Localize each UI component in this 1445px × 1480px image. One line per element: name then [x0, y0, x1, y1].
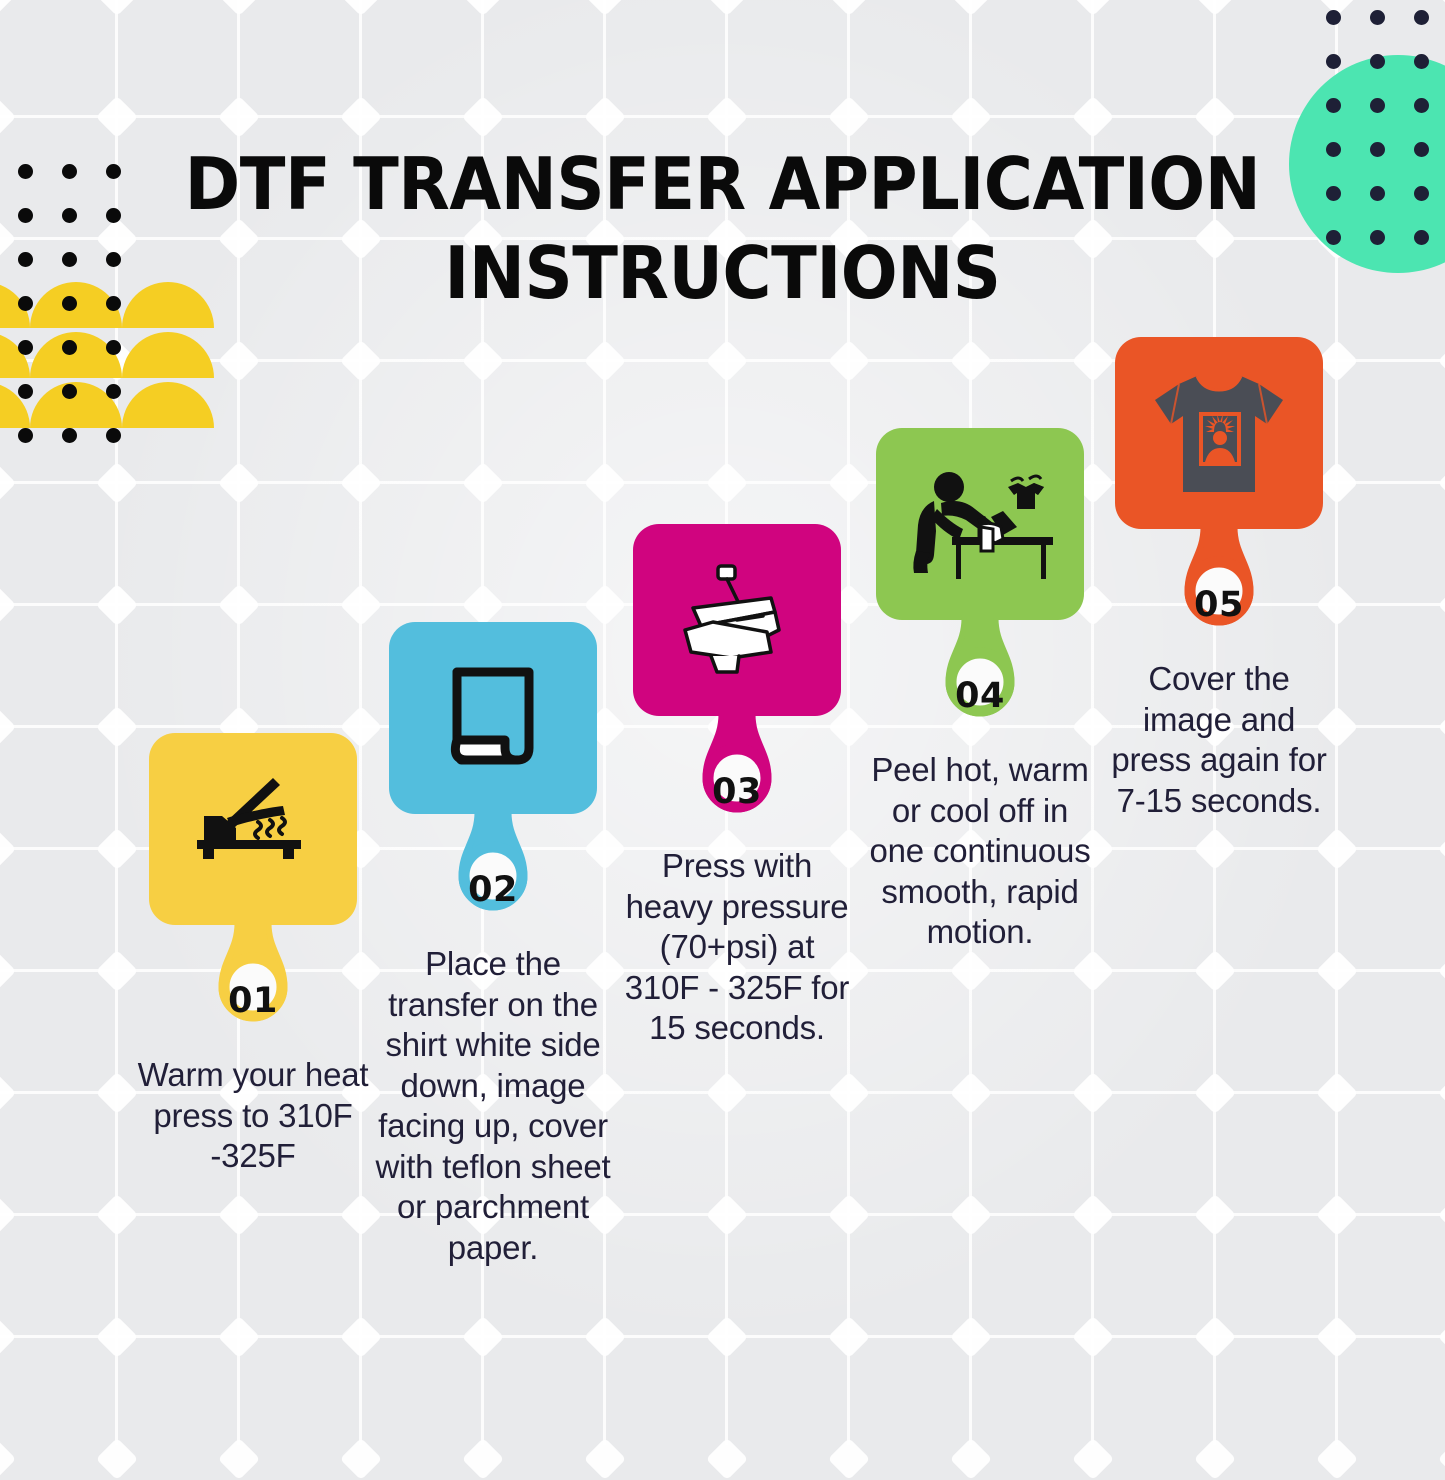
step-card-02	[389, 622, 597, 814]
step-number-04: 04	[855, 676, 1105, 716]
step-number-03: 03	[612, 772, 862, 812]
step-02: 02Place the transfer on the shirt white …	[368, 622, 618, 1269]
step-connector-01: 01	[128, 925, 378, 1049]
step-description-03: Press with heavy pressure (70+psi) at 31…	[612, 846, 862, 1049]
step-04: 04Peel hot, warm or cool off in one cont…	[855, 428, 1105, 953]
step-connector-04: 04	[855, 620, 1105, 744]
step-connector-03: 03	[612, 716, 862, 840]
transfer-sheet-icon	[437, 662, 549, 774]
step-card-01	[149, 733, 357, 925]
step-description-05: Cover the image and press again for 7-15…	[1094, 659, 1344, 821]
step-card-05	[1115, 337, 1323, 529]
step-number-01: 01	[128, 981, 378, 1021]
step-01: 01Warm your heat press to 310F -325F	[128, 733, 378, 1177]
steps-container: 01Warm your heat press to 310F -325F 02P…	[0, 0, 1445, 1445]
heat-press-open-icon	[187, 774, 319, 884]
step-number-05: 05	[1094, 585, 1344, 625]
step-05: 05Cover the image and press again for 7-…	[1094, 337, 1344, 821]
step-description-01: Warm your heat press to 310F -325F	[128, 1055, 378, 1177]
step-number-02: 02	[368, 870, 618, 910]
step-description-02: Place the transfer on the shirt white si…	[368, 944, 618, 1269]
printed-tshirt-icon	[1149, 368, 1289, 498]
heat-press-machine-icon	[671, 560, 803, 680]
step-connector-05: 05	[1094, 529, 1344, 653]
step-card-04	[876, 428, 1084, 620]
person-peeling-transfer-icon	[907, 465, 1053, 583]
step-03: 03Press with heavy pressure (70+psi) at …	[612, 524, 862, 1049]
step-card-03	[633, 524, 841, 716]
step-description-04: Peel hot, warm or cool off in one contin…	[855, 750, 1105, 953]
step-connector-02: 02	[368, 814, 618, 938]
